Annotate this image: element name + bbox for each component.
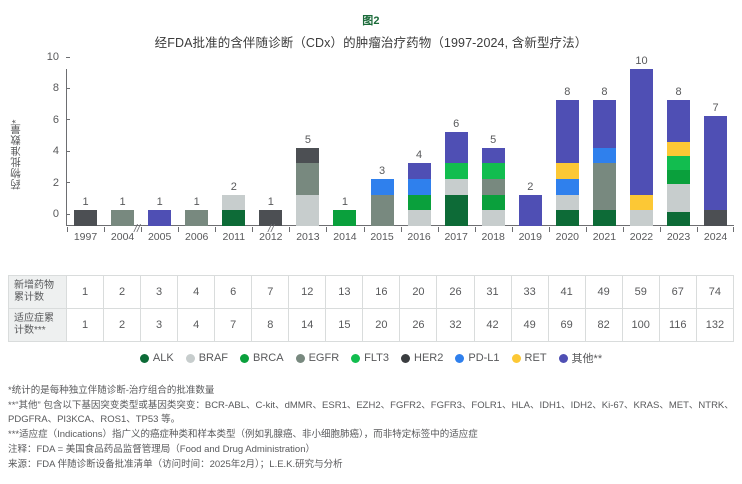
bar-column[interactable]: 2 [215,69,252,226]
table-cell: 42 [474,309,511,342]
table-cell: 49 [511,309,548,342]
figure-label: 图2 [0,12,742,28]
bar-value-label: 1 [111,196,134,208]
bar-segment-brca[interactable] [408,195,431,211]
footnotes: *统计的是每种独立伴随诊断-治疗组合的批准数量**“其他” 包含以下基因突变类型… [8,384,734,472]
bar-series-container: 1111215134652881087 [67,69,734,226]
x-axis-tick-2020: 2020 [549,228,586,248]
legend-color-swatch-icon [240,354,249,363]
y-axis-tick: 0 [53,208,66,220]
table-cell: 74 [696,276,733,309]
bar-segment-ret[interactable] [630,195,653,211]
bar-segment-her2[interactable] [704,210,727,226]
bar-column[interactable]: 3 [364,69,401,226]
legend-item-brca[interactable]: BRCA [240,352,284,364]
table-cell: 3 [141,309,178,342]
bar-value-label: 4 [408,149,431,161]
bar-segment-her2[interactable] [74,210,97,226]
table-cell: 116 [659,309,696,342]
legend-label: FLT3 [364,352,389,364]
bar-segment-其他[interactable] [148,210,171,226]
legend-label: BRCA [253,352,284,364]
footnote-line: *统计的是每种独立伴随诊断-治疗组合的批准数量 [8,384,734,399]
bar-column[interactable]: 5 [475,69,512,226]
bar-segment-flt3[interactable] [482,163,505,179]
table-cell: 16 [363,276,400,309]
footnote-line: **“其他” 包含以下基因突变类型或基因类突变：BCR-ABL、C-kit、dM… [8,399,734,428]
table-cell: 59 [622,276,659,309]
legend-item-ret[interactable]: RET [512,352,547,364]
stacked-bar[interactable]: 1 [185,210,208,226]
bar-segment-braf[interactable] [630,210,653,226]
stacked-bar[interactable]: 8 [556,100,579,226]
bar-value-label: 1 [333,196,356,208]
bar-segment-pd-l1[interactable] [371,179,394,195]
bar-value-label: 2 [222,181,245,193]
bar-segment-brca[interactable] [482,195,505,211]
bar-column[interactable]: 8 [660,69,697,226]
stacked-bar[interactable]: 5 [482,148,505,227]
stacked-bar[interactable]: 2 [519,195,542,226]
table-cell: 7 [252,276,289,309]
table-cell: 4 [178,276,215,309]
x-axis-tick-2021: 2021 [586,228,623,248]
stacked-bar[interactable]: 8 [593,100,616,226]
table-cell: 6 [215,276,252,309]
y-axis-tick: 6 [53,114,66,126]
legend-label: ALK [153,352,174,364]
legend-color-swatch-icon [351,354,360,363]
bar-segment-其他[interactable] [445,132,468,163]
bar-value-label: 7 [704,102,727,114]
table-cell: 13 [326,276,363,309]
stacked-bar[interactable]: 1 [74,210,97,226]
bar-segment-braf[interactable] [482,210,505,226]
bar-segment-其他[interactable] [667,100,690,142]
bar-segment-flt3[interactable] [445,163,468,179]
stacked-bar[interactable]: 2 [222,195,245,226]
bar-value-label: 2 [519,181,542,193]
y-axis-tick: 8 [53,82,66,94]
legend-color-swatch-icon [455,354,464,363]
bar-value-label: 5 [296,134,319,146]
legend-color-swatch-icon [401,354,410,363]
bar-segment-alk[interactable] [667,212,690,226]
table-cell: 1 [67,309,104,342]
stacked-bar[interactable]: 4 [408,163,431,226]
table-cell: 7 [215,309,252,342]
legend-label: EGFR [309,352,340,364]
bar-column[interactable]: 1 [178,69,215,226]
bar-segment-其他[interactable] [556,100,579,163]
footnote-line: 来源：FDA 伴随诊断设备批准清单（访问时间：2025年2月）；L.E.K.研究… [8,458,734,473]
legend-label: PD-L1 [468,352,499,364]
bar-segment-alk[interactable] [593,210,616,226]
bar-segment-pd-l1[interactable] [408,179,431,195]
legend-color-swatch-icon [296,354,305,363]
bar-value-label: 5 [482,134,505,146]
bar-value-label: 1 [74,196,97,208]
table-cell: 12 [289,276,326,309]
legend-label: HER2 [414,352,443,364]
bar-segment-egfr[interactable] [593,163,616,210]
legend-item-flt3[interactable]: FLT3 [351,352,389,364]
bar-segment-pd-l1[interactable] [556,179,579,195]
x-axis-tick-2016: 2016 [401,228,438,248]
legend-item-egfr[interactable]: EGFR [296,352,340,364]
table-cell: 82 [585,309,622,342]
bar-value-label: 8 [667,86,690,98]
chart-legend: ALKBRAFBRCAEGFRFLT3HER2PD-L1RET其他** [0,350,742,366]
bar-column[interactable]: 6 [438,69,475,226]
x-axis-tick-labels: 1997200420052006201120122013201420152016… [67,228,734,248]
page-title: 经FDA批准的含伴随诊断（CDx）的肿瘤治疗药物（1997-2024, 含新型疗… [0,32,742,51]
table-row: 适应症累计数***1234781415202632424969821001161… [9,309,734,342]
bar-segment-alk[interactable] [556,210,579,226]
bar-chart: 药物批准数量* 0246810 1111215134652881087 1997… [0,63,742,248]
bar-column[interactable]: 1 [252,69,289,226]
legend-item-pd-l1[interactable]: PD-L1 [455,352,499,364]
legend-color-swatch-icon [512,354,521,363]
axis-break-mark-2: // [268,223,274,235]
bar-column[interactable]: 4 [401,69,438,226]
stacked-bar[interactable]: 8 [667,100,690,226]
table-cell: 26 [400,309,437,342]
bar-segment-alk[interactable] [222,210,245,226]
bar-value-label: 1 [185,196,208,208]
stacked-bar[interactable]: 1 [111,210,134,226]
bar-segment-alk[interactable] [445,195,468,226]
table-cell: 41 [548,276,585,309]
bar-segment-braf[interactable] [296,195,319,226]
table-cell: 49 [585,276,622,309]
bar-column[interactable]: 1 [326,69,363,226]
table-cell: 3 [141,276,178,309]
table-cell: 100 [622,309,659,342]
bar-segment-brca[interactable] [667,170,690,184]
stacked-bar[interactable]: 5 [296,148,319,227]
bar-column[interactable]: 2 [512,69,549,226]
legend-label: RET [525,352,547,364]
y-axis-tick: 2 [53,177,66,189]
x-axis-tick-2023: 2023 [660,228,697,248]
table-cell: 14 [289,309,326,342]
table-cell: 20 [400,276,437,309]
table-cell: 15 [326,309,363,342]
x-axis-tick-2015: 2015 [364,228,401,248]
stacked-bar[interactable]: 1 [333,210,356,226]
table-cell: 33 [511,276,548,309]
legend-color-swatch-icon [186,354,195,363]
x-axis-tick-1997: 1997 [67,228,104,248]
bar-segment-egfr[interactable] [185,210,208,226]
x-axis-tick-2017: 2017 [438,228,475,248]
bar-segment-其他[interactable] [519,195,542,226]
legend-item-her2[interactable]: HER2 [401,352,443,364]
table-cell: 2 [104,309,141,342]
bar-column[interactable]: 10 [623,69,660,226]
bar-column[interactable]: 8 [549,69,586,226]
footnote-line: 注释：FDA = 美国食品药品监督管理局（Food and Drug Admin… [8,443,734,458]
bar-value-label: 3 [371,165,394,177]
x-axis-tick-2006: 2006 [178,228,215,248]
y-axis-tick: 10 [47,51,66,63]
bar-value-label: 1 [259,196,282,208]
stacked-bar[interactable]: 6 [445,132,468,226]
table-cell: 67 [659,276,696,309]
table-cell: 32 [437,309,474,342]
summary-table: 新增药物累计数123467121316202631334149596774适应症… [8,275,734,342]
table-cell: 26 [437,276,474,309]
stacked-bar[interactable]: 7 [704,116,727,226]
bar-segment-其他[interactable] [593,100,616,147]
bar-segment-egfr[interactable] [111,210,134,226]
legend-item-braf[interactable]: BRAF [186,352,228,364]
legend-item-alk[interactable]: ALK [140,352,174,364]
table-cell: 8 [252,309,289,342]
footnote-line: ***适应症（Indications）指广义的癌症种类和样本类型（例如乳腺癌、非… [8,428,734,443]
legend-color-swatch-icon [559,354,568,363]
table-cell: 132 [696,309,733,342]
bar-segment-pd-l1[interactable] [593,148,616,164]
bar-column[interactable]: 1 [141,69,178,226]
bar-segment-ret[interactable] [667,142,690,156]
table-cell: 1 [67,276,104,309]
bar-column[interactable]: 1 [67,69,104,226]
stacked-bar[interactable]: 3 [371,179,394,226]
axis-break-mark-1: // [134,223,140,235]
table-cell: 2 [104,276,141,309]
table-cell: 69 [548,309,585,342]
y-axis-tick: 4 [53,145,66,157]
table-row-label: 适应症累计数*** [9,309,67,342]
x-axis-tick-2024: 2024 [697,228,734,248]
x-axis-tick-2014: 2014 [326,228,363,248]
bar-segment-braf[interactable] [445,179,468,195]
legend-item-其他[interactable]: 其他** [559,350,603,366]
legend-color-swatch-icon [140,354,149,363]
bar-segment-her2[interactable] [296,148,319,164]
stacked-bar[interactable]: 1 [148,210,171,226]
bar-value-label: 8 [556,86,579,98]
bar-segment-braf[interactable] [222,195,245,211]
bar-segment-其他[interactable] [704,116,727,210]
bar-column[interactable]: 7 [697,69,734,226]
bar-value-label: 1 [148,196,171,208]
table-cell: 31 [474,276,511,309]
x-axis-tick-2013: 2013 [289,228,326,248]
bar-segment-braf[interactable] [408,210,431,226]
legend-label: 其他** [572,350,603,366]
bar-segment-egfr[interactable] [371,195,394,226]
bar-column[interactable]: 5 [289,69,326,226]
bar-segment-egfr[interactable] [296,163,319,194]
bar-value-label: 6 [445,118,468,130]
bar-value-label: 8 [593,86,616,98]
bar-column[interactable]: 1 [104,69,141,226]
bar-segment-其他[interactable] [482,148,505,164]
table-row-label: 新增药物累计数 [9,276,67,309]
bar-segment-brca[interactable] [333,210,356,226]
bar-segment-egfr[interactable] [482,179,505,195]
plot-area: 0246810 1111215134652881087 [66,69,734,226]
bar-segment-其他[interactable] [408,163,431,179]
bar-segment-其他[interactable] [630,69,653,195]
table-cell: 4 [178,309,215,342]
table-row: 新增药物累计数123467121316202631334149596774 [9,276,734,309]
bar-value-label: 10 [630,55,653,67]
stacked-bar[interactable]: 10 [630,69,653,226]
bar-segment-braf[interactable] [667,184,690,212]
bar-column[interactable]: 8 [586,69,623,226]
x-axis-tick-2011: 2011 [215,228,252,248]
table-cell: 20 [363,309,400,342]
legend-label: BRAF [199,352,228,364]
x-axis-tick-2019: 2019 [512,228,549,248]
y-axis-label: 药物批准数量* [8,119,23,190]
bar-segment-braf[interactable] [556,195,579,211]
x-axis-tick-2018: 2018 [475,228,512,248]
x-axis-tick-2005: 2005 [141,228,178,248]
bar-segment-ret[interactable] [556,163,579,179]
bar-segment-flt3[interactable] [667,156,690,170]
x-axis-tick-2022: 2022 [623,228,660,248]
